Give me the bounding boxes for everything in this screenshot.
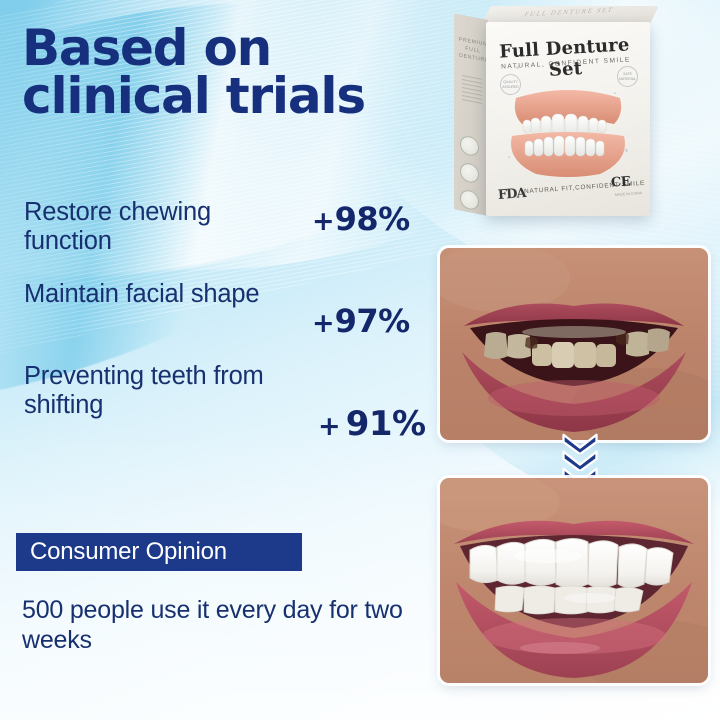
product-box-side-seals xyxy=(460,135,479,220)
benefits-list: Restore chewing function +98% Maintain f… xyxy=(20,198,420,444)
product-box-side-panel: PREMIUM FULL DENTURE xyxy=(454,13,488,216)
after-photo-graphic xyxy=(440,478,708,683)
benefit-value: 91% xyxy=(346,404,426,444)
benefit-label: Maintain facial shape xyxy=(24,280,294,309)
plus-sign: + xyxy=(312,206,335,237)
plus-sign: + xyxy=(318,411,341,442)
seal-icon xyxy=(460,189,479,212)
fda-mark-icon: FDA xyxy=(498,186,527,203)
benefit-item: Restore chewing function +98% xyxy=(20,198,420,280)
seal-icon xyxy=(460,135,479,158)
product-box-side-textblock xyxy=(462,75,482,107)
benefit-label: Restore chewing function xyxy=(24,198,294,256)
product-box-image: FULL DENTURE SET PREMIUM FULL DENTURE Fu… xyxy=(452,6,667,218)
product-box-side-title: PREMIUM FULL DENTURE xyxy=(459,37,487,65)
plus-sign: + xyxy=(312,308,335,339)
before-photo-graphic xyxy=(440,248,708,440)
before-photo xyxy=(440,248,708,440)
product-box-footer: FDA NATURAL FIT,CONFIDENT SMILE CE MADE … xyxy=(486,168,650,202)
denture-illustration xyxy=(502,84,634,180)
product-box-tiny-text: MADE IN CHINA xyxy=(615,191,642,197)
benefit-percentage: + 91% xyxy=(318,404,426,444)
benefit-label: Preventing teeth from shifting xyxy=(24,362,294,420)
ce-mark-icon: CE xyxy=(610,174,630,190)
benefit-value: 98% xyxy=(335,200,410,238)
benefit-item: Maintain facial shape +97% xyxy=(20,280,420,362)
product-box-front-panel: Full Denture Set NATURAL, CONFIDENT SMIL… xyxy=(486,22,650,216)
seal-icon xyxy=(460,162,479,185)
advertisement-card: Based on clinical trials Restore chewing… xyxy=(0,0,720,720)
page-title: Based on clinical trials xyxy=(22,24,452,120)
benefit-percentage: +98% xyxy=(312,200,410,238)
benefit-percentage: +97% xyxy=(312,302,410,340)
consumer-opinion-note: 500 people use it every day for two week… xyxy=(22,596,422,655)
benefit-item: Preventing teeth from shifting + 91% xyxy=(20,362,420,444)
after-photo xyxy=(440,478,708,683)
consumer-opinion-badge: Consumer Opinion xyxy=(16,533,302,571)
benefit-value: 97% xyxy=(335,302,410,340)
